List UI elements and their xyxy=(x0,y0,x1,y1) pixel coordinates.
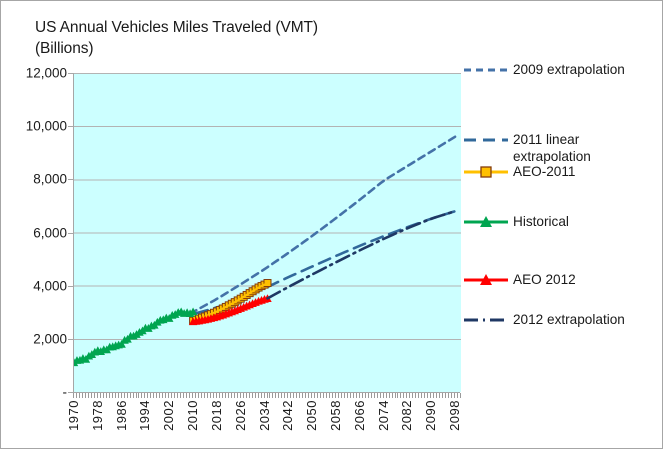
x-tick-mark xyxy=(192,393,193,398)
x-tick-mark xyxy=(216,393,217,398)
plot-svg xyxy=(74,73,461,392)
x-tick-mark xyxy=(91,393,92,398)
x-tick-label: 2002 xyxy=(161,400,176,431)
x-tick-mark xyxy=(141,393,142,398)
x-tick-mark xyxy=(115,393,116,398)
x-tick-mark xyxy=(290,393,291,398)
x-tick-mark xyxy=(421,393,422,398)
x-tick-mark xyxy=(136,393,137,398)
x-tick-mark xyxy=(133,393,134,398)
x-tick-label: 2050 xyxy=(304,400,319,431)
x-tick-mark xyxy=(240,393,241,398)
x-tick-mark xyxy=(377,393,378,398)
x-tick-mark xyxy=(356,393,357,398)
x-tick-mark xyxy=(118,393,119,398)
x-tick-mark xyxy=(433,393,434,398)
x-tick-mark xyxy=(457,393,458,398)
x-tick-mark xyxy=(168,393,169,398)
x-tick-mark xyxy=(249,393,250,398)
x-tick-label: 2018 xyxy=(209,400,224,431)
x-tick-mark xyxy=(317,393,318,398)
legend-item[interactable]: 2009 extrapolation xyxy=(463,61,661,78)
x-tick-mark xyxy=(213,393,214,398)
x-tick-mark xyxy=(284,393,285,398)
legend-label: AEO 2012 xyxy=(513,271,576,288)
legend-swatch-icon xyxy=(463,272,509,288)
x-tick-label: 2066 xyxy=(352,400,367,431)
legend-swatch-icon xyxy=(463,214,509,230)
legend-label: 2009 extrapolation xyxy=(513,61,625,78)
x-tick-mark xyxy=(97,393,98,398)
y-tick-label: 10,000 xyxy=(1,119,67,134)
legend-item[interactable]: Historical xyxy=(463,213,661,230)
x-tick-mark xyxy=(225,393,226,398)
x-tick-mark xyxy=(335,393,336,398)
x-tick-mark xyxy=(281,393,282,398)
x-tick-mark xyxy=(267,393,268,398)
x-tick-mark xyxy=(165,393,166,398)
x-tick-mark xyxy=(82,393,83,398)
x-tick-mark xyxy=(412,393,413,398)
x-tick-mark xyxy=(138,393,139,398)
y-tick-label: 8,000 xyxy=(1,172,67,187)
x-tick-mark xyxy=(430,393,431,398)
legend-item[interactable]: AEO 2012 xyxy=(463,271,661,288)
x-tick-mark xyxy=(153,393,154,398)
x-tick-mark xyxy=(293,393,294,398)
x-tick-mark xyxy=(186,393,187,398)
x-tick-mark xyxy=(112,393,113,398)
x-tick-mark xyxy=(323,393,324,398)
x-tick-mark xyxy=(261,393,262,398)
legend-swatch-icon xyxy=(463,164,509,180)
x-tick-mark xyxy=(76,393,77,398)
x-tick-mark xyxy=(320,393,321,398)
x-tick-mark xyxy=(264,393,265,398)
x-tick-mark xyxy=(252,393,253,398)
x-tick-label: 2042 xyxy=(280,400,295,431)
vmt-chart: US Annual Vehicles Miles Traveled (VMT) … xyxy=(0,0,663,449)
x-tick-mark xyxy=(246,393,247,398)
legend-label: AEO-2011 xyxy=(513,163,575,180)
x-tick-mark xyxy=(368,393,369,398)
y-tick-label: 12,000 xyxy=(1,66,67,81)
x-tick-mark xyxy=(130,393,131,398)
x-tick-mark xyxy=(406,393,407,398)
x-tick-mark xyxy=(329,393,330,398)
series-historical xyxy=(74,307,197,366)
x-tick-mark xyxy=(234,393,235,398)
x-tick-label: 2010 xyxy=(185,400,200,431)
x-tick-mark xyxy=(314,393,315,398)
x-tick-mark xyxy=(305,393,306,398)
legend-swatch-icon xyxy=(463,62,509,78)
x-tick-mark xyxy=(418,393,419,398)
x-tick-mark xyxy=(397,393,398,398)
x-tick-label: 2098 xyxy=(447,400,462,431)
x-tick-mark xyxy=(427,393,428,398)
x-axis-tick-marks xyxy=(73,393,460,399)
x-tick-mark xyxy=(106,393,107,398)
legend-label: 2011 linear extrapolation xyxy=(513,131,591,165)
x-tick-mark xyxy=(386,393,387,398)
x-tick-mark xyxy=(94,393,95,398)
x-tick-label: 2026 xyxy=(233,400,248,431)
x-tick-mark xyxy=(442,393,443,398)
x-tick-mark xyxy=(198,393,199,398)
x-tick-mark xyxy=(445,393,446,398)
x-tick-mark xyxy=(296,393,297,398)
x-tick-mark xyxy=(409,393,410,398)
x-tick-mark xyxy=(287,393,288,398)
x-tick-mark xyxy=(424,393,425,398)
x-tick-mark xyxy=(460,393,461,398)
x-tick-mark xyxy=(88,393,89,398)
y-tick-label: 2,000 xyxy=(1,331,67,346)
x-tick-mark xyxy=(302,393,303,398)
x-tick-mark xyxy=(326,393,327,398)
x-tick-mark xyxy=(278,393,279,398)
x-tick-mark xyxy=(150,393,151,398)
x-tick-mark xyxy=(183,393,184,398)
x-tick-mark xyxy=(222,393,223,398)
x-tick-mark xyxy=(204,393,205,398)
y-tick-label: 4,000 xyxy=(1,278,67,293)
x-tick-mark xyxy=(237,393,238,398)
x-tick-mark xyxy=(350,393,351,398)
x-tick-mark xyxy=(389,393,390,398)
x-tick-mark xyxy=(400,393,401,398)
x-tick-mark xyxy=(127,393,128,398)
x-tick-label: 2058 xyxy=(328,400,343,431)
legend-label: Historical xyxy=(513,213,569,230)
x-tick-mark xyxy=(371,393,372,398)
x-tick-label: 1986 xyxy=(114,400,129,431)
x-tick-label: 2074 xyxy=(376,400,391,431)
x-tick-mark xyxy=(103,393,104,398)
x-tick-mark xyxy=(347,393,348,398)
x-tick-label: 2082 xyxy=(399,400,414,431)
x-tick-mark xyxy=(100,393,101,398)
x-tick-label: 1970 xyxy=(66,400,81,431)
x-tick-mark xyxy=(180,393,181,398)
x-tick-mark xyxy=(201,393,202,398)
x-tick-mark xyxy=(171,393,172,398)
x-tick-mark xyxy=(353,393,354,398)
chart-legend: 2009 extrapolation2011 linear extrapolat… xyxy=(463,53,661,353)
x-tick-mark xyxy=(272,393,273,398)
x-tick-mark xyxy=(219,393,220,398)
x-tick-label: 2090 xyxy=(423,400,438,431)
x-tick-mark xyxy=(380,393,381,398)
y-tick-label: - xyxy=(1,385,67,400)
x-tick-mark xyxy=(362,393,363,398)
x-tick-mark xyxy=(147,393,148,398)
x-tick-mark xyxy=(243,393,244,398)
x-tick-mark xyxy=(395,393,396,398)
x-tick-label: 1978 xyxy=(90,400,105,431)
x-tick-mark xyxy=(124,393,125,398)
x-tick-mark xyxy=(79,393,80,398)
x-tick-mark xyxy=(451,393,452,398)
legend-item[interactable]: AEO-2011 xyxy=(463,163,661,180)
x-tick-mark xyxy=(341,393,342,398)
x-tick-mark xyxy=(332,393,333,398)
x-tick-mark xyxy=(383,393,384,398)
series-line xyxy=(268,211,456,298)
x-tick-mark xyxy=(365,393,366,398)
x-tick-mark xyxy=(162,393,163,398)
x-tick-mark xyxy=(344,393,345,398)
x-tick-mark xyxy=(258,393,259,398)
x-tick-mark xyxy=(159,393,160,398)
x-tick-mark xyxy=(439,393,440,398)
x-tick-mark xyxy=(156,393,157,398)
x-tick-mark xyxy=(189,393,190,398)
legend-swatch-icon xyxy=(463,312,509,328)
x-tick-mark xyxy=(85,393,86,398)
x-tick-mark xyxy=(311,393,312,398)
x-tick-mark xyxy=(228,393,229,398)
x-tick-mark xyxy=(338,393,339,398)
legend-label: 2012 extrapolation xyxy=(513,311,625,328)
chart-title: US Annual Vehicles Miles Traveled (VMT) … xyxy=(35,17,455,59)
series-aeo-2012 xyxy=(189,294,272,325)
x-tick-mark xyxy=(454,393,455,398)
series-2012-extrapolation xyxy=(268,211,456,298)
x-tick-mark xyxy=(269,393,270,398)
x-tick-label: 2034 xyxy=(257,400,272,431)
x-tick-mark xyxy=(207,393,208,398)
x-tick-mark xyxy=(144,393,145,398)
series-layer xyxy=(74,137,455,366)
legend-swatch-icon xyxy=(463,132,509,148)
x-tick-mark xyxy=(403,393,404,398)
x-tick-label: 1994 xyxy=(137,400,152,431)
x-tick-mark xyxy=(121,393,122,398)
x-tick-mark xyxy=(177,393,178,398)
x-tick-mark xyxy=(210,393,211,398)
x-tick-mark xyxy=(275,393,276,398)
x-tick-mark xyxy=(436,393,437,398)
x-tick-mark xyxy=(73,393,74,398)
x-tick-mark xyxy=(299,393,300,398)
y-axis: 12,00010,0008,0006,0004,0002,000- xyxy=(1,1,67,450)
legend-item[interactable]: 2011 linear extrapolation xyxy=(463,131,661,165)
x-tick-mark xyxy=(255,393,256,398)
x-tick-mark xyxy=(359,393,360,398)
x-tick-mark xyxy=(415,393,416,398)
x-tick-mark xyxy=(392,393,393,398)
x-axis-labels: 1970197819861994200220102018202620342042… xyxy=(73,400,460,448)
x-tick-mark xyxy=(195,393,196,398)
plot-area xyxy=(73,73,461,392)
x-tick-mark xyxy=(374,393,375,398)
x-tick-mark xyxy=(448,393,449,398)
x-tick-mark xyxy=(308,393,309,398)
y-tick-label: 6,000 xyxy=(1,225,67,240)
x-tick-mark xyxy=(231,393,232,398)
legend-item[interactable]: 2012 extrapolation xyxy=(463,311,661,328)
x-tick-mark xyxy=(109,393,110,398)
x-tick-mark xyxy=(174,393,175,398)
